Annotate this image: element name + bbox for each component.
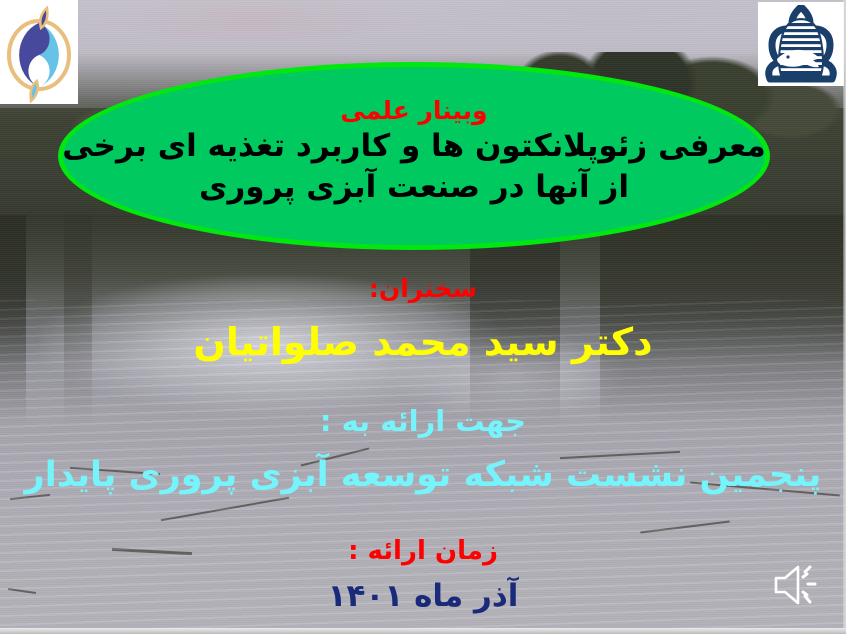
webinar-kicker: وبینار علمی: [340, 98, 487, 124]
title-line-2: از آنها در صنعت آبزی پروری: [199, 167, 629, 208]
presentation-time-label: زمان ارائه :: [0, 536, 846, 566]
title-callout-ellipse: وبینار علمی معرفی زئوپلانکتون ها و کاربر…: [58, 62, 770, 250]
speaker-name: دکتر سید محمد صلواتیان: [0, 320, 846, 364]
presentation-time-value: آذر ماه ۱۴۰۱: [0, 578, 846, 614]
speaker-sound-icon[interactable]: [772, 562, 828, 608]
speaker-label: سخنران:: [0, 274, 846, 303]
window-bottom-edge: [0, 628, 846, 634]
presented-to-label: جهت ارائه به :: [0, 404, 846, 438]
presentation-slide: وبینار علمی معرفی زئوپلانکتون ها و کاربر…: [0, 0, 846, 634]
organization-logo-left: [0, 0, 78, 104]
title-line-1: معرفی زئوپلانکتون ها و کاربرد تغذیه ای ب…: [62, 126, 765, 167]
presented-to-value: پنجمین نشست شبکه توسعه آبزی پروری پایدار: [0, 455, 846, 495]
organization-logo-right: [758, 2, 844, 86]
